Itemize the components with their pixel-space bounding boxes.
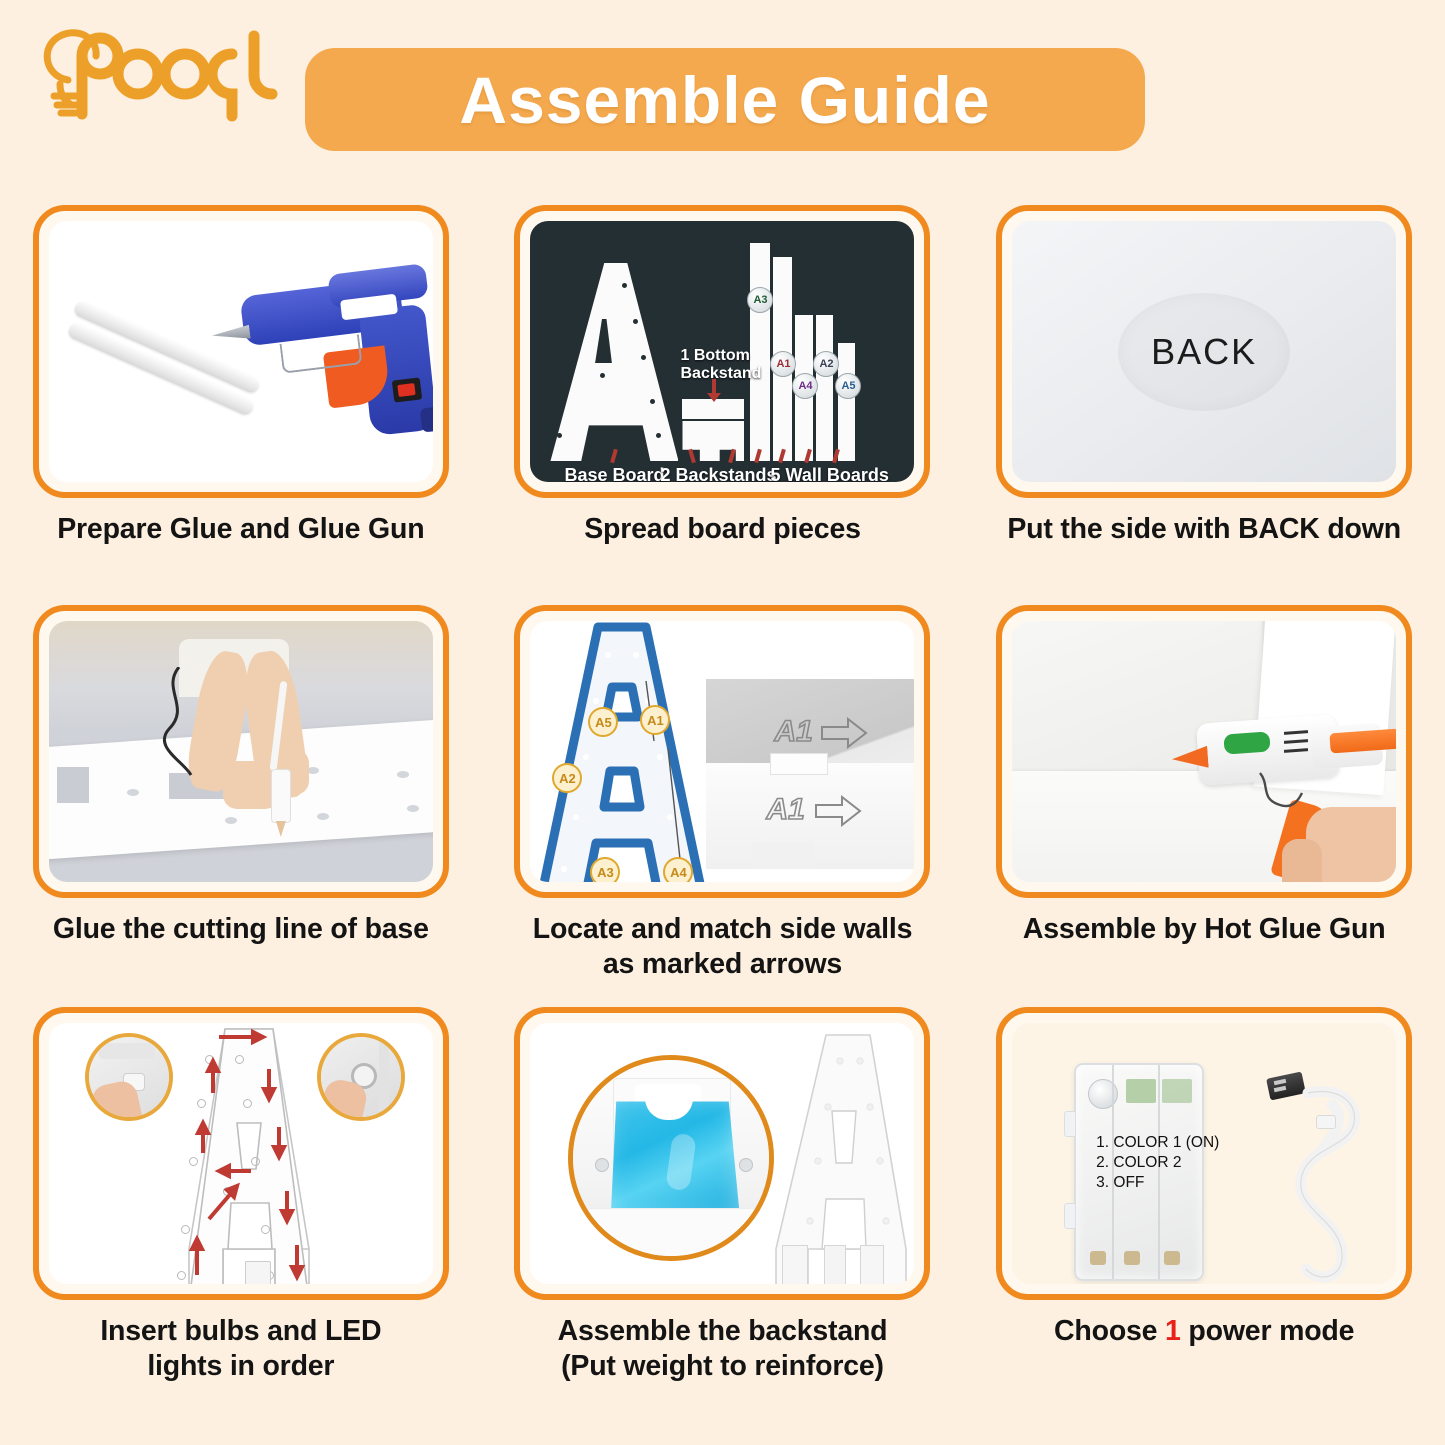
step-3-caption: Put the side with BACK down xyxy=(1007,512,1401,547)
step-4-image-frame xyxy=(33,605,449,898)
brand-logo xyxy=(26,18,286,128)
step-card-2: A3 A1 A2 A4 A5 1 Bottom Backstand Base B… xyxy=(482,205,964,605)
page-title: Assemble Guide xyxy=(459,62,990,138)
wall-board-a2 xyxy=(816,315,833,461)
board-pieces-layout-diagram: A3 A1 A2 A4 A5 1 Bottom Backstand Base B… xyxy=(530,221,914,482)
step-8-caption: Assemble the backstand (Put weight to re… xyxy=(558,1314,888,1384)
step-card-6: Assemble by Hot Glue Gun xyxy=(963,605,1445,1007)
back-label-text: BACK xyxy=(1151,331,1257,373)
wall-boards-label: 5 Wall Boards xyxy=(770,465,888,482)
a1-arrow-tag-lower: A1 xyxy=(766,793,804,827)
step-2-caption: Spread board pieces xyxy=(584,512,861,547)
arrow-right-icon-upper xyxy=(820,717,870,749)
step-5-caption-line2: as marked arrows xyxy=(533,947,912,982)
step-9-caption-prefix: Choose xyxy=(1054,1315,1165,1347)
step-6-image-frame xyxy=(996,605,1412,898)
step-7-caption: Insert bulbs and LED lights in order xyxy=(100,1314,381,1384)
step-8-image-frame xyxy=(514,1007,930,1300)
step-9-image-frame: 1. COLOR 1 (ON) 2. COLOR 2 3. OFF xyxy=(996,1007,1412,1300)
glue-gun-and-glue-sticks-photo xyxy=(49,221,433,482)
water-bag-closeup xyxy=(568,1055,774,1261)
step-3-image-frame: BACK xyxy=(996,205,1412,498)
piece-tag-a5: A5 xyxy=(835,373,861,399)
back-labeled-board-photo: BACK xyxy=(1012,221,1396,482)
base-board-letter-a xyxy=(550,263,678,461)
page-title-pill: Assemble Guide xyxy=(305,48,1145,151)
step-1-image-frame xyxy=(33,205,449,498)
battery-box-and-usb-cable-photo: 1. COLOR 1 (ON) 2. COLOR 2 3. OFF xyxy=(1012,1023,1396,1284)
step-6-caption: Assemble by Hot Glue Gun xyxy=(1023,912,1386,947)
step-4-caption: Glue the cutting line of base xyxy=(53,912,429,947)
piece-tag-a4: A4 xyxy=(792,373,818,399)
bottom-backstand-label-line1: 1 Bottom xyxy=(680,347,749,365)
step-card-3: BACK Put the side with BACK down xyxy=(963,205,1445,605)
backstands-label: 2 Backstands xyxy=(660,465,776,482)
steps-grid: Prepare Glue and Glue Gun xyxy=(0,205,1445,1407)
wall-board-a3 xyxy=(750,243,770,461)
bottom-backstand-label-line2: Backstand xyxy=(680,365,761,383)
bulb-insertion-order-diagram xyxy=(49,1023,433,1284)
hands-gluing-base-board-photo xyxy=(49,621,433,882)
hot-glue-gun-in-use-photo xyxy=(1012,621,1396,882)
step-5-caption: Locate and match side walls as marked ar… xyxy=(533,912,912,982)
assemble-guide-page: Assemble Guide xyxy=(0,0,1445,1445)
bulb-insert-closeup-left xyxy=(85,1033,173,1121)
step-8-caption-line2: (Put weight to reinforce) xyxy=(558,1349,888,1384)
step-9-caption: Choose 1 power mode xyxy=(1054,1314,1354,1349)
step-7-caption-line2: lights in order xyxy=(100,1349,381,1384)
step-9-caption-highlight: 1 xyxy=(1165,1315,1181,1347)
step-card-1: Prepare Glue and Glue Gun xyxy=(0,205,482,605)
base-board-label: Base Board xyxy=(564,465,664,482)
arrow-right-icon-lower xyxy=(814,795,864,827)
bulb-insert-closeup-right xyxy=(317,1033,405,1121)
step-5-caption-line1: Locate and match side walls xyxy=(533,912,912,947)
wall-board-a5 xyxy=(838,343,855,461)
power-mode-list: 1. COLOR 1 (ON) 2. COLOR 2 3. OFF xyxy=(1096,1133,1219,1192)
step-card-4: Glue the cutting line of base xyxy=(0,605,482,1007)
step-1-caption: Prepare Glue and Glue Gun xyxy=(57,512,424,547)
letter-a-sidewall-match-diagram: A5 A1 A2 A3 A4 A1 A xyxy=(530,621,914,882)
step-card-5: A5 A1 A2 A3 A4 A1 A xyxy=(482,605,964,1007)
backstand-piece-1 xyxy=(682,399,744,419)
step-9-caption-suffix: power mode xyxy=(1181,1315,1355,1347)
step-8-caption-line1: Assemble the backstand xyxy=(558,1314,888,1349)
page-header: Assemble Guide xyxy=(0,0,1445,185)
step-card-8: Assemble the backstand (Put weight to re… xyxy=(482,1007,964,1407)
lightbulb-icon xyxy=(26,18,286,128)
usb-cable xyxy=(1262,1083,1396,1284)
piece-tag-a1: A1 xyxy=(770,351,796,377)
step-7-image-frame xyxy=(33,1007,449,1300)
piece-tag-a2: A2 xyxy=(813,351,839,377)
step-card-9: 1. COLOR 1 (ON) 2. COLOR 2 3. OFF xyxy=(963,1007,1445,1407)
step-2-image-frame: A3 A1 A2 A4 A5 1 Bottom Backstand Base B… xyxy=(514,205,930,498)
step-5-image-frame: A5 A1 A2 A3 A4 A1 A xyxy=(514,605,930,898)
step-7-caption-line1: Insert bulbs and LED xyxy=(100,1314,381,1349)
step-card-7: Insert bulbs and LED lights in order xyxy=(0,1007,482,1407)
backstand-water-bag-photo xyxy=(530,1023,914,1284)
a1-arrow-tag-upper: A1 xyxy=(774,715,812,749)
